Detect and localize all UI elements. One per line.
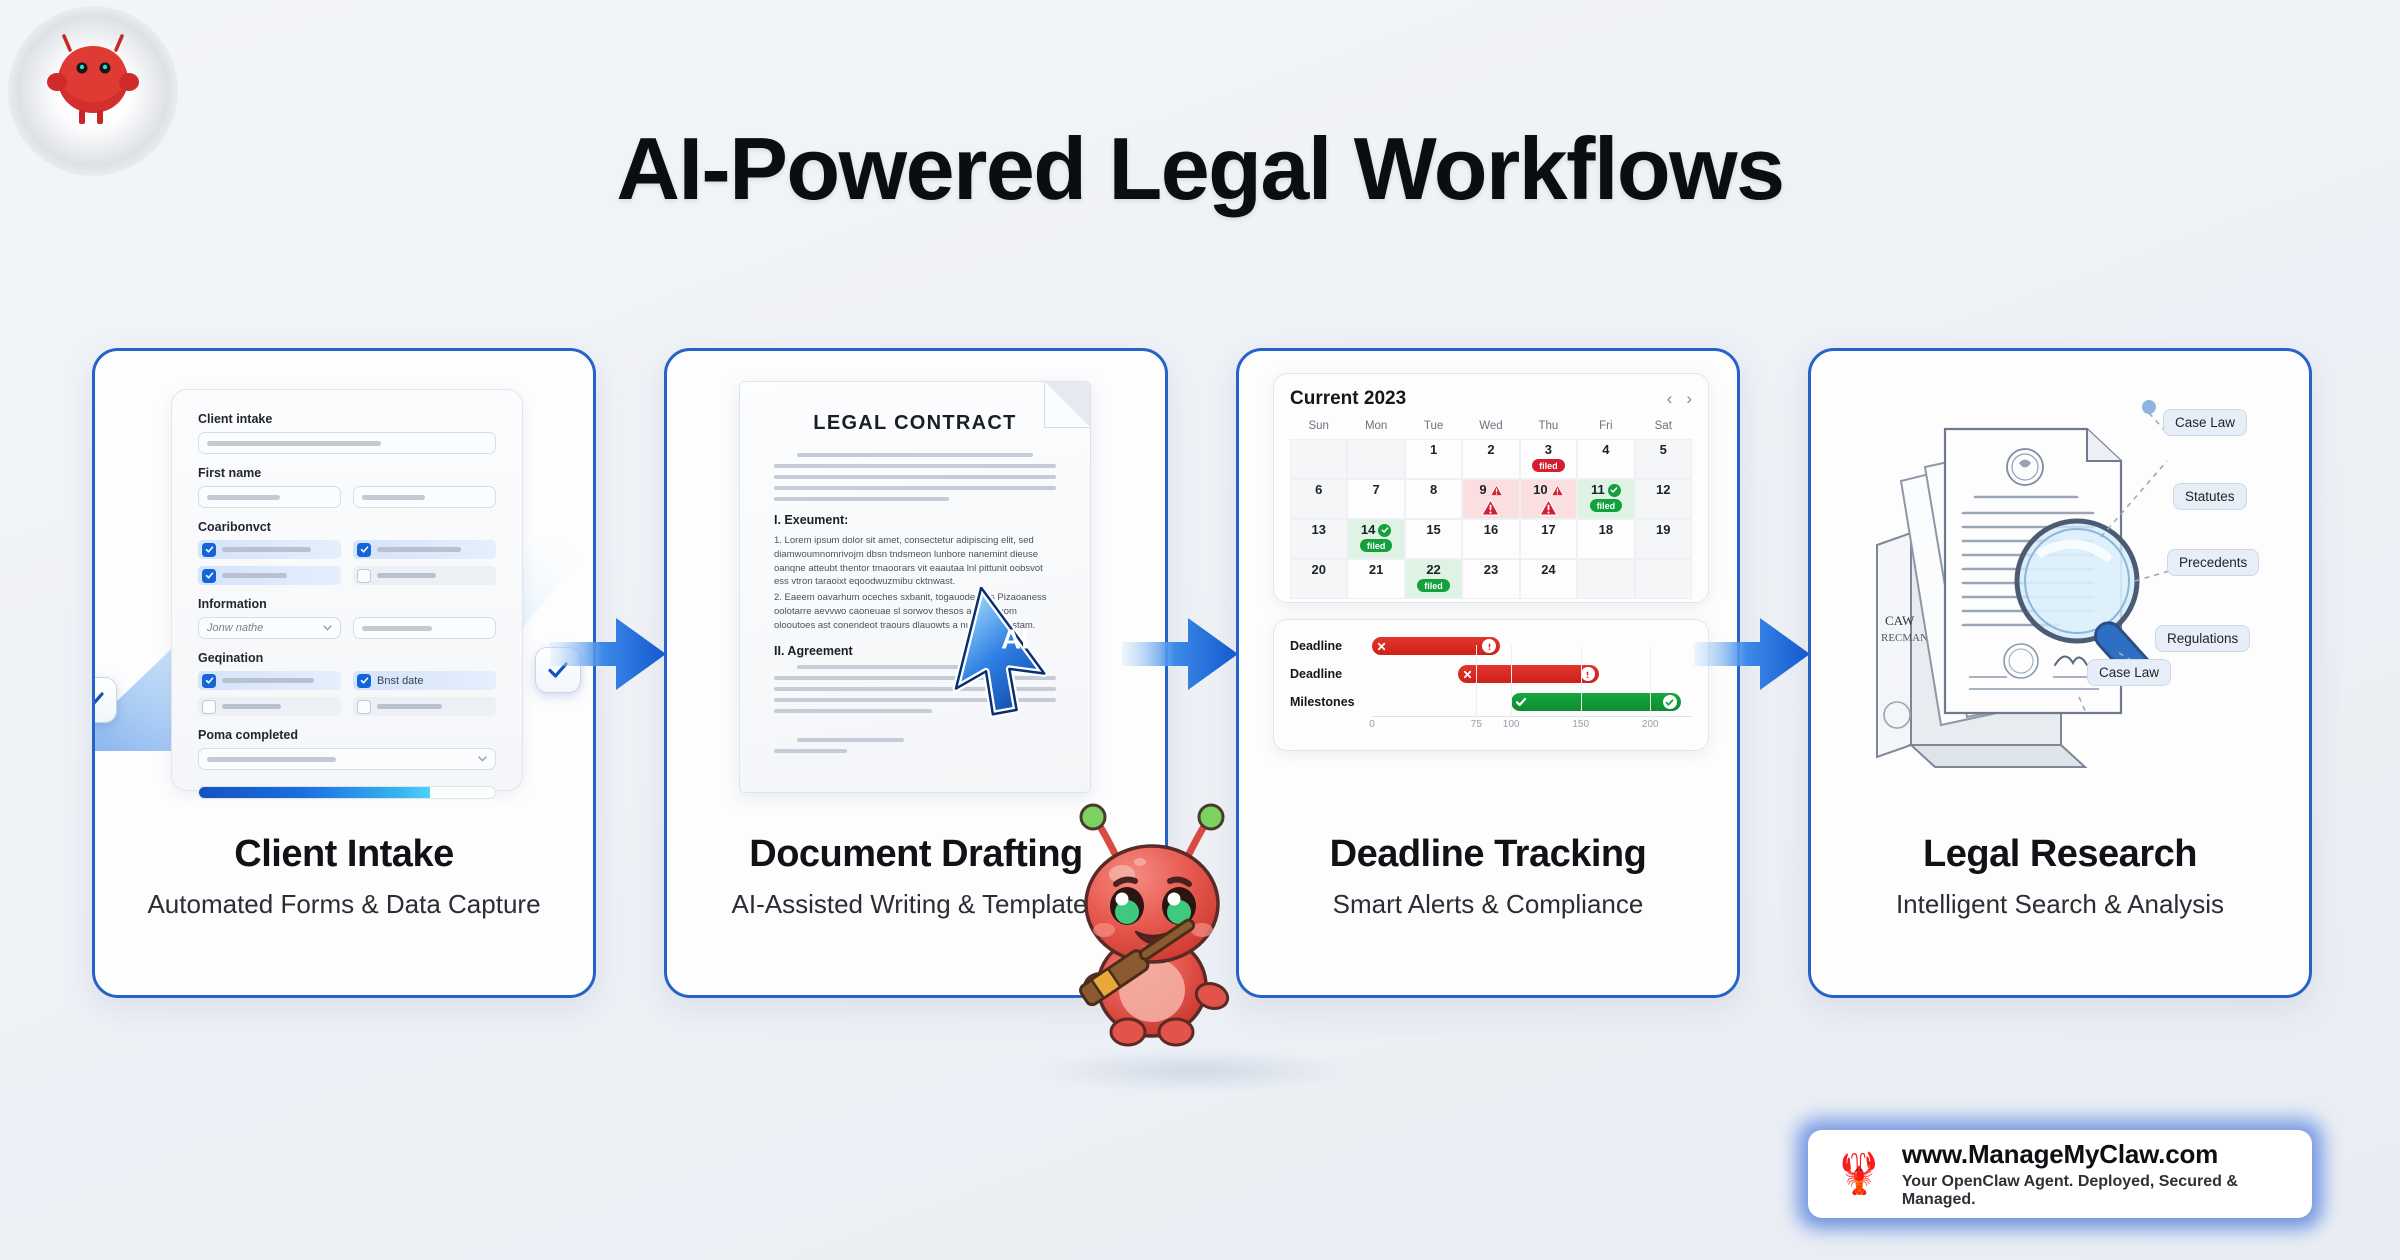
- calendar-weekday: Tue: [1405, 420, 1462, 439]
- calendar-day-number: 12: [1656, 483, 1670, 497]
- checkbox-label: Bnst date: [377, 675, 423, 687]
- check-icon: [202, 543, 216, 557]
- gantt-bar[interactable]: [1458, 665, 1599, 683]
- calendar-day-number: 15: [1426, 523, 1440, 537]
- crab-mascot-with-gavel-icon: [1042, 800, 1262, 1050]
- calendar-status-pill: filed: [1590, 499, 1623, 512]
- calendar-day-number: 9: [1479, 483, 1486, 497]
- warning-icon: [1481, 498, 1500, 517]
- calendar-panel[interactable]: Current 2023 ‹ › SunMonTueWedThuFriSat 1…: [1273, 373, 1709, 603]
- gantt-row[interactable]: Deadline: [1290, 660, 1692, 688]
- calendar-day-number: 1: [1430, 443, 1437, 457]
- x-icon: [1376, 641, 1387, 652]
- ai-cursor-label: AI: [1001, 623, 1029, 654]
- tag-precedents[interactable]: Precedents: [2167, 549, 2259, 576]
- gantt-axis-tick: 0: [1369, 719, 1375, 730]
- check-circle-icon: [1608, 484, 1621, 497]
- calendar-day-number: 7: [1373, 483, 1380, 497]
- calendar-weekday-row: SunMonTueWedThuFriSat: [1290, 420, 1692, 439]
- calendar-day-number: 14: [1361, 523, 1375, 537]
- calendar-day-cell[interactable]: 4: [1577, 439, 1634, 479]
- calendar-day-cell[interactable]: 18: [1577, 519, 1634, 559]
- client-intake-input[interactable]: [198, 432, 496, 454]
- calendar-day-cell[interactable]: 6: [1290, 479, 1347, 519]
- calendar-day-cell[interactable]: 12: [1635, 479, 1692, 519]
- card-title: Legal Research: [1811, 833, 2309, 876]
- tag-regulations[interactable]: Regulations: [2155, 625, 2250, 652]
- calendar-day-number: 2: [1487, 443, 1494, 457]
- calendar-day-number: 18: [1599, 523, 1613, 537]
- calendar-day-number: 17: [1541, 523, 1555, 537]
- calendar-status-pill: filed: [1417, 579, 1450, 592]
- document-heading: LEGAL CONTRACT: [774, 412, 1056, 435]
- calendar-day-cell[interactable]: 20: [1290, 559, 1347, 599]
- checkbox-row-bnst-date[interactable]: Bnst date: [353, 671, 496, 690]
- calendar-day-cell[interactable]: 22filed: [1405, 559, 1462, 599]
- calendar-day-cell[interactable]: 21: [1347, 559, 1404, 599]
- x-icon: [1462, 669, 1473, 680]
- gantt-axis-tick: 150: [1572, 719, 1589, 730]
- calendar-header: Current 2023 ‹ ›: [1290, 388, 1692, 410]
- calendar-day-cell: [1635, 559, 1692, 599]
- calendar-day-cell[interactable]: 15: [1405, 519, 1462, 559]
- calendar-status-pill: filed: [1360, 539, 1393, 552]
- check-badge-icon[interactable]: [95, 677, 117, 723]
- card-subtitle: Smart Alerts & Compliance: [1239, 889, 1737, 920]
- calendar-day-number: 13: [1311, 523, 1325, 537]
- chevron-down-icon: [478, 756, 487, 762]
- warning-icon: [1551, 484, 1564, 497]
- calendar-day-cell: [1347, 439, 1404, 479]
- card-deadline-tracking[interactable]: Current 2023 ‹ › SunMonTueWedThuFriSat 1…: [1236, 348, 1740, 998]
- warning-icon: [1539, 498, 1558, 517]
- gantt-axis-tick: 200: [1642, 719, 1659, 730]
- mascot-shadow: [1044, 1050, 1344, 1092]
- checkbox-row[interactable]: [353, 566, 496, 585]
- calendar-day-number: 22: [1426, 563, 1440, 577]
- checkbox-row[interactable]: [353, 697, 496, 716]
- document-stack-illustration: CAW RECMANOL: [1849, 385, 2169, 785]
- legal-research-visual: CAW RECMANOL: [1811, 351, 2309, 821]
- document-item-1: 1. Lorem ipsum dolor sit amet, consectet…: [774, 534, 1056, 589]
- field-label-information: Information: [198, 597, 496, 611]
- calendar-day-cell[interactable]: 10: [1520, 479, 1577, 519]
- calendar-day-cell[interactable]: 5: [1635, 439, 1692, 479]
- calendar-day-number: 10: [1533, 483, 1547, 497]
- calendar-day-number: 19: [1656, 523, 1670, 537]
- card-title: Deadline Tracking: [1239, 833, 1737, 876]
- last-name-input[interactable]: [353, 486, 496, 508]
- field-label-first-name: First name: [198, 466, 496, 480]
- checkbox-empty-icon: [357, 700, 371, 714]
- gantt-row[interactable]: Milestones: [1290, 688, 1692, 716]
- gantt-bar-end-icon: [1663, 695, 1677, 709]
- footer-badge[interactable]: 🦞 www.ManageMyClaw.com Your OpenClaw Age…: [1808, 1130, 2312, 1218]
- calendar-day-cell[interactable]: 16: [1462, 519, 1519, 559]
- field-label-geqination: Geqination: [198, 651, 496, 665]
- check-circle-icon: [1378, 524, 1391, 537]
- geqination-checkbox-group: Bnst date: [198, 671, 496, 716]
- arrow-right-icon: [548, 608, 668, 700]
- calendar-weekday: Mon: [1347, 420, 1404, 439]
- calendar-day-cell[interactable]: 9: [1462, 479, 1519, 519]
- arrow-right-icon: [1692, 608, 1812, 700]
- card-legal-research[interactable]: CAW RECMANOL: [1808, 348, 2312, 998]
- checkbox-row[interactable]: [198, 540, 341, 559]
- gantt-row-label: Deadline: [1290, 639, 1372, 653]
- page-title: AI-Powered Legal Workflows: [0, 118, 2400, 220]
- tag-case-law-2[interactable]: Case Law: [2087, 659, 2171, 686]
- checkbox-empty-icon: [202, 700, 216, 714]
- calendar-day-number: 24: [1541, 563, 1555, 577]
- calendar-weekday: Thu: [1520, 420, 1577, 439]
- check-icon: [1515, 696, 1527, 708]
- gantt-gridline: [1581, 645, 1582, 717]
- gantt-gridline: [1650, 645, 1651, 717]
- checkbox-row[interactable]: [353, 540, 496, 559]
- check-icon: [357, 543, 371, 557]
- client-intake-visual: Client intake First name Coaribonvct: [95, 351, 593, 821]
- chevron-down-icon: [323, 625, 332, 631]
- footer-url[interactable]: www.ManageMyClaw.com: [1902, 1139, 2286, 1170]
- connector-dot: [2142, 400, 2156, 414]
- gantt-gridline: [1476, 645, 1477, 717]
- gantt-gridline: [1511, 645, 1512, 717]
- calendar-grid[interactable]: 123filed4567891011filed121314filed151617…: [1290, 439, 1692, 599]
- calendar-weekday: Sat: [1635, 420, 1692, 439]
- book-label-line1: CAW: [1885, 613, 1915, 628]
- document-section-1: I. Exeument:: [774, 513, 1056, 527]
- calendar-day-number: 8: [1430, 483, 1437, 497]
- calendar-day-number: 23: [1484, 563, 1498, 577]
- calendar-day-number: 4: [1602, 443, 1609, 457]
- calendar-day-number: 6: [1315, 483, 1322, 497]
- calendar-day-cell[interactable]: 13: [1290, 519, 1347, 559]
- calendar-day-number: 16: [1484, 523, 1498, 537]
- first-name-input[interactable]: [198, 486, 341, 508]
- gantt-row[interactable]: Deadline: [1290, 632, 1692, 660]
- first-name-row: [198, 486, 496, 508]
- coaribonvct-checkbox-group: [198, 540, 496, 585]
- calendar-day-cell[interactable]: 17: [1520, 519, 1577, 559]
- calendar-day-cell[interactable]: 1: [1405, 439, 1462, 479]
- calendar-day-number: 20: [1311, 563, 1325, 577]
- card-title: Client Intake: [95, 833, 593, 876]
- checkbox-row[interactable]: [198, 671, 341, 690]
- calendar-day-cell[interactable]: 3filed: [1520, 439, 1577, 479]
- calendar-day-cell[interactable]: 24: [1520, 559, 1577, 599]
- calendar-day-cell: [1577, 559, 1634, 599]
- calendar-title: Current 2023: [1290, 388, 1406, 410]
- calendar-weekday: Wed: [1462, 420, 1519, 439]
- calendar-weekday: Sun: [1290, 420, 1347, 439]
- gantt-axis-tick: 100: [1503, 719, 1520, 730]
- calendar-day-cell[interactable]: 7: [1347, 479, 1404, 519]
- calendar-status-pill: filed: [1532, 459, 1565, 472]
- gantt-bar[interactable]: [1372, 637, 1500, 655]
- arrow-right-icon: [1120, 608, 1240, 700]
- footer-tagline: Your OpenClaw Agent. Deployed, Secured &…: [1902, 1173, 2286, 1209]
- card-subtitle: Intelligent Search & Analysis: [1811, 889, 2309, 920]
- information-select-value: Jonw nathe: [207, 622, 263, 634]
- calendar-day-cell[interactable]: 8: [1405, 479, 1462, 519]
- page-fold-corner: [1044, 382, 1090, 428]
- chevron-left-icon[interactable]: ‹: [1667, 389, 1673, 409]
- card-subtitle: Automated Forms & Data Capture: [95, 889, 593, 920]
- calendar-day-cell[interactable]: 14filed: [1347, 519, 1404, 559]
- information-select[interactable]: Jonw nathe: [198, 617, 341, 639]
- calendar-weekday: Fri: [1577, 420, 1634, 439]
- information-row: Jonw nathe: [198, 617, 496, 639]
- calendar-day-cell[interactable]: 23: [1462, 559, 1519, 599]
- gantt-bar[interactable]: [1511, 693, 1681, 711]
- ai-cursor-icon: AI: [943, 587, 1073, 725]
- calendar-day-number: 5: [1660, 443, 1667, 457]
- field-label-coaribonvct: Coaribonvct: [198, 520, 496, 534]
- tag-case-law[interactable]: Case Law: [2163, 409, 2247, 436]
- calendar-day-number: 11: [1591, 483, 1605, 497]
- lobster-icon: 🦞: [1834, 1154, 1884, 1194]
- poma-completed-select[interactable]: [198, 748, 496, 770]
- calendar-day-cell[interactable]: 2: [1462, 439, 1519, 479]
- field-label-client-intake: Client intake: [198, 412, 496, 426]
- chevron-right-icon[interactable]: ›: [1686, 389, 1692, 409]
- gantt-row-label: Deadline: [1290, 667, 1372, 681]
- calendar-day-cell[interactable]: 19: [1635, 519, 1692, 559]
- check-icon: [202, 674, 216, 688]
- gantt-row-label: Milestones: [1290, 695, 1372, 709]
- calendar-day-cell: [1290, 439, 1347, 479]
- warning-icon: [1490, 484, 1503, 497]
- form-progress-bar: [198, 786, 496, 799]
- tag-statutes[interactable]: Statutes: [2173, 483, 2247, 510]
- gantt-bar-end-icon: [1581, 667, 1595, 681]
- gantt-bar-end-icon: [1482, 639, 1496, 653]
- card-client-intake[interactable]: Client intake First name Coaribonvct: [92, 348, 596, 998]
- check-icon: [357, 674, 371, 688]
- check-icon: [202, 569, 216, 583]
- document-drafting-visual: LEGAL CONTRACT I. Exeument: 1. Lorem ips…: [667, 351, 1165, 821]
- gantt-axis-tick: 75: [1471, 719, 1482, 730]
- information-text-input[interactable]: [353, 617, 496, 639]
- calendar-day-number: 3: [1545, 443, 1552, 457]
- deadline-tracking-visual: Current 2023 ‹ › SunMonTueWedThuFriSat 1…: [1239, 351, 1737, 821]
- checkbox-empty-icon: [357, 569, 371, 583]
- checkbox-row[interactable]: [198, 566, 341, 585]
- calendar-day-cell[interactable]: 11filed: [1577, 479, 1634, 519]
- gantt-x-axis: 075100150200: [1372, 716, 1692, 734]
- checkbox-row[interactable]: [198, 697, 341, 716]
- calendar-day-number: 21: [1369, 563, 1383, 577]
- intake-form-panel[interactable]: Client intake First name Coaribonvct: [171, 389, 523, 791]
- field-label-poma-completed: Poma completed: [198, 728, 496, 742]
- deadline-gantt-chart[interactable]: DeadlineDeadlineMilestones 075100150200: [1273, 619, 1709, 751]
